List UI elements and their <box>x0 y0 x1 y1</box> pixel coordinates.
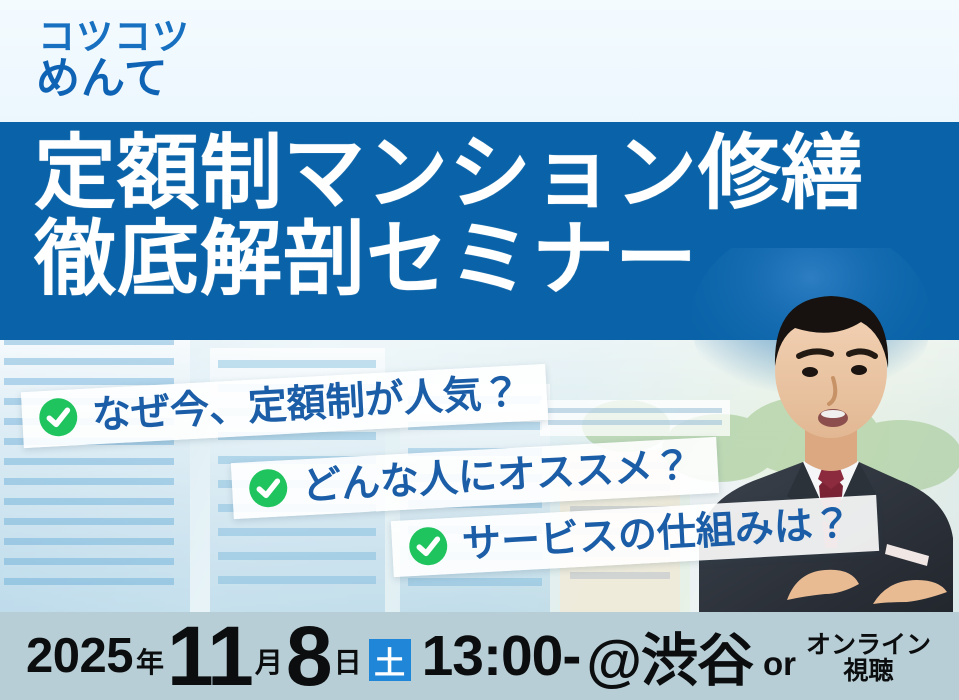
online-label-line-2: 視聴 <box>843 657 893 685</box>
page-title-line-1: 定額制マンション修繕 <box>34 134 934 214</box>
event-month-unit: 月 <box>255 641 283 681</box>
logo-line-2: めんて <box>36 57 216 101</box>
event-conjunction: or <box>763 645 796 683</box>
event-details-bar: 2025 年 11 月 8 日 土 13:00- @渋谷 or オンライン 視聴 <box>0 612 959 700</box>
check-circle-icon <box>407 525 449 567</box>
event-month: 11 <box>167 614 252 698</box>
event-time: 13:00- <box>422 623 581 689</box>
online-label-line-1: オンライン <box>806 631 931 659</box>
presenter-portrait <box>691 248 959 616</box>
check-circle-icon <box>247 467 289 509</box>
seminar-banner: コツコツ めんて <box>0 0 959 700</box>
check-circle-icon <box>37 396 79 438</box>
brand-logo: コツコツ めんて <box>36 18 216 104</box>
event-venue: @渋谷 <box>586 615 753 697</box>
event-day: 8 <box>286 614 331 698</box>
event-weekday-badge: 土 <box>369 639 411 681</box>
event-online-option: オンライン 視聴 <box>806 632 931 685</box>
event-year-unit: 年 <box>136 641 164 681</box>
event-year: 2025 <box>26 628 133 684</box>
logo-line-1: コツコツ <box>38 18 216 55</box>
event-day-unit: 日 <box>334 641 362 681</box>
presenter-photo-icon <box>691 248 959 616</box>
